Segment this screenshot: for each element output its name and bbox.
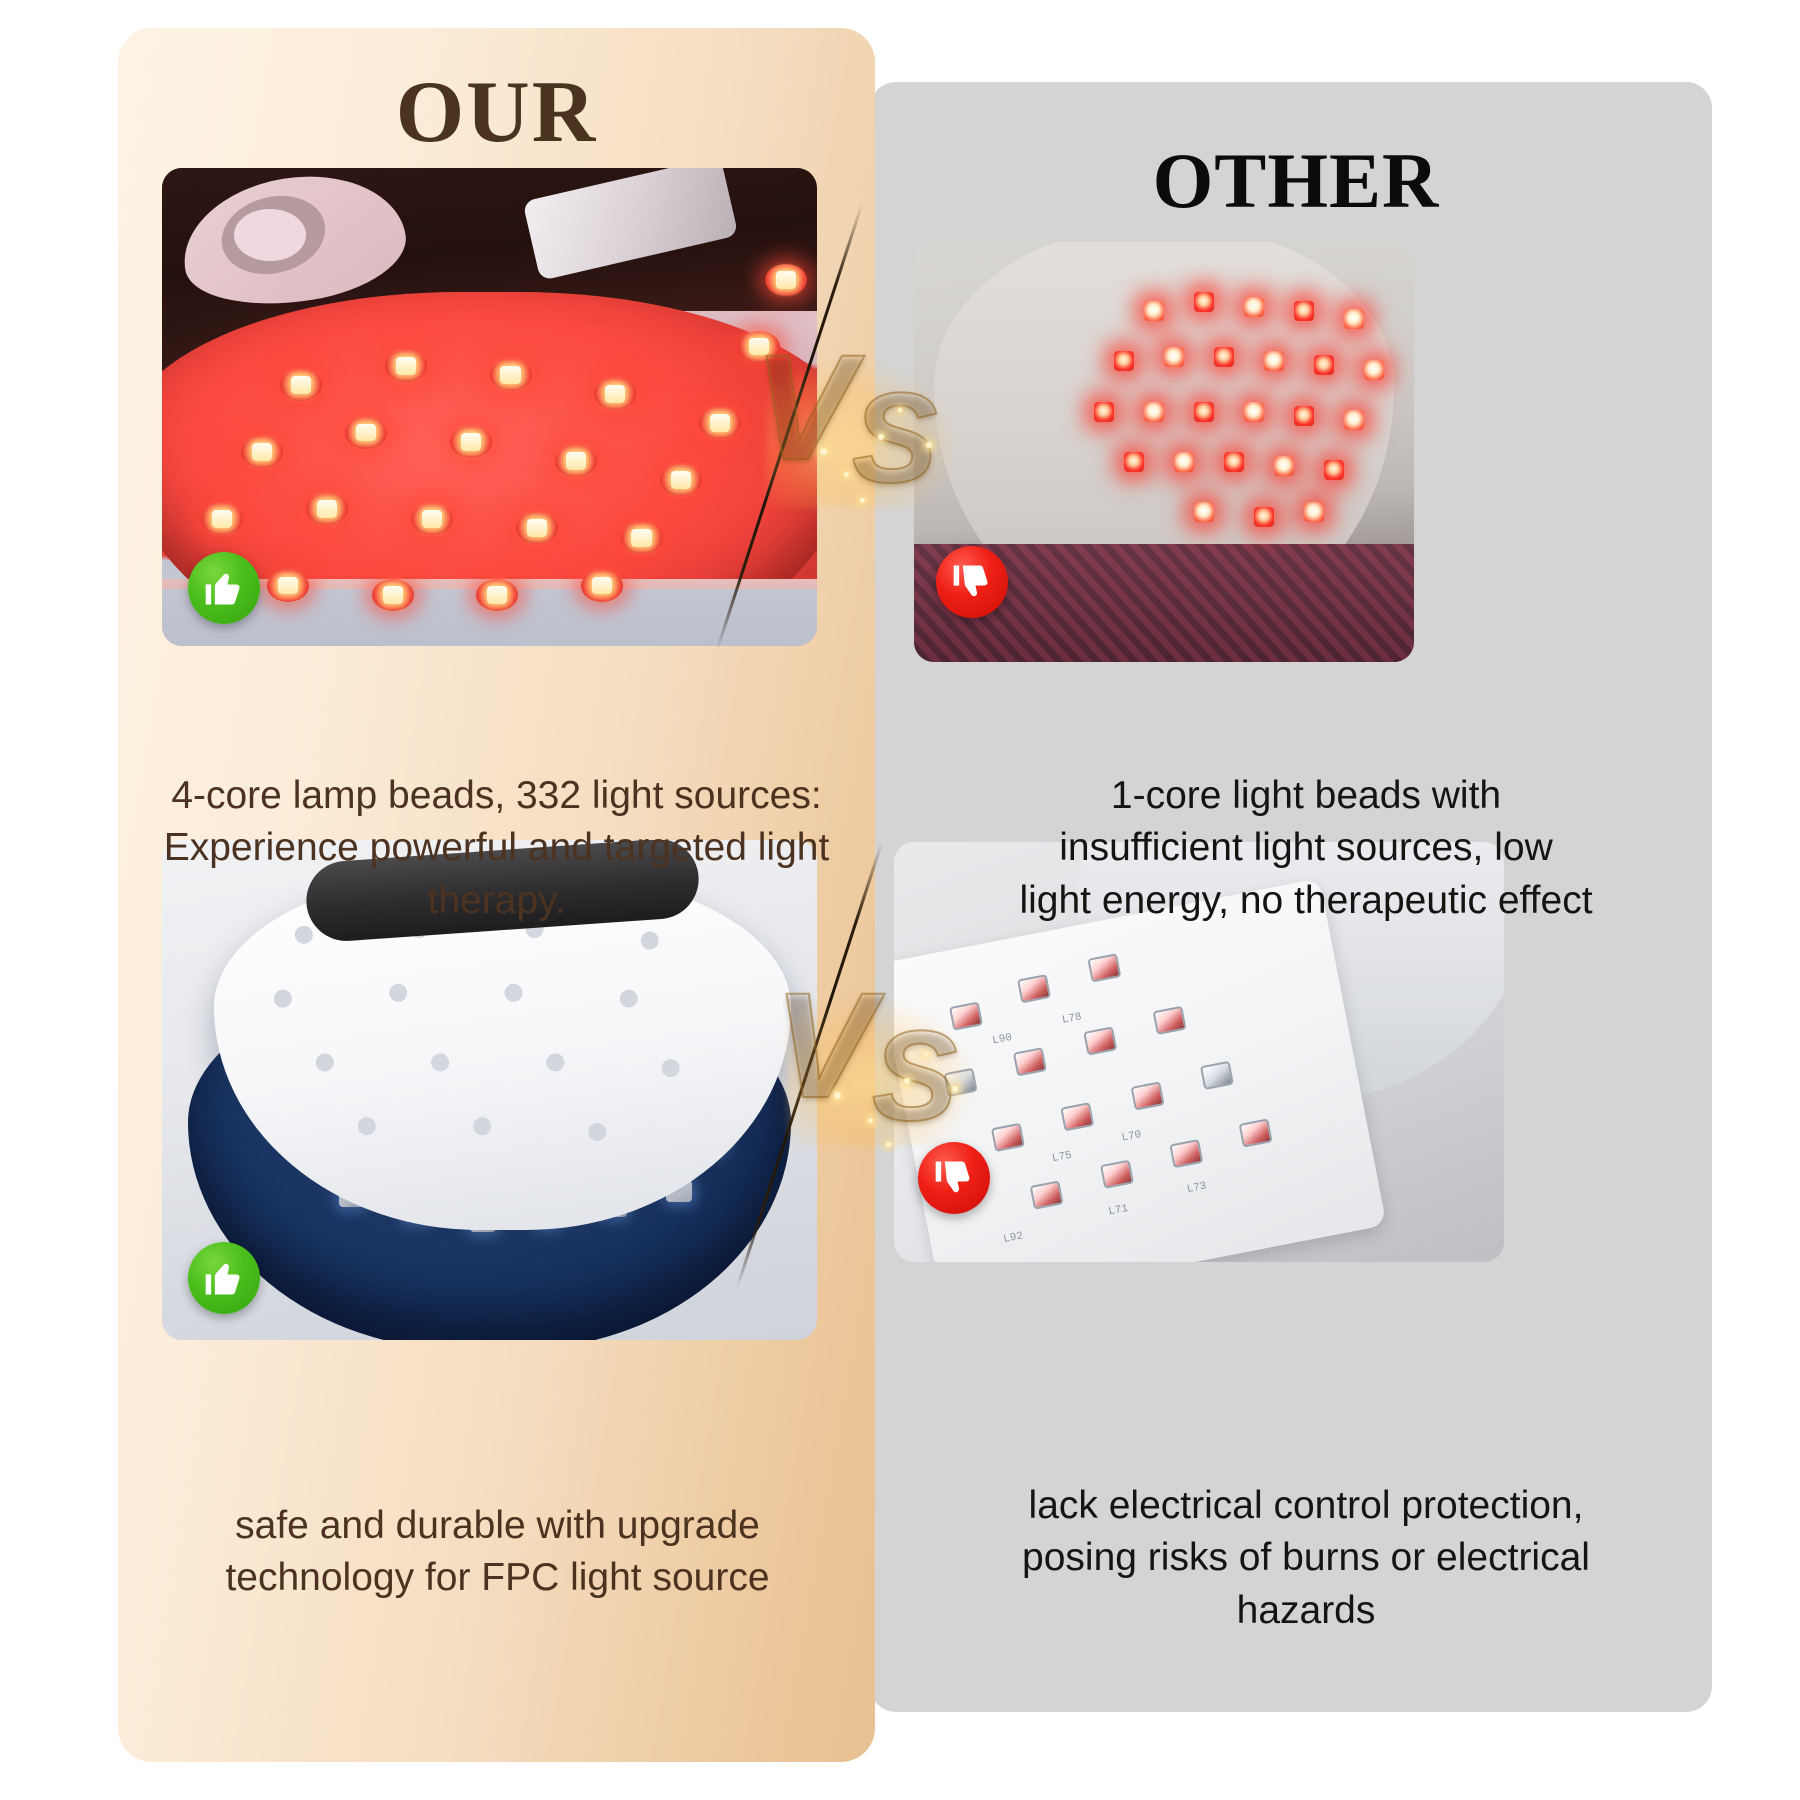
- caption-line: technology for FPC light source: [140, 1552, 855, 1604]
- thumbs-up-icon: [202, 566, 246, 610]
- other-title: OTHER: [880, 136, 1712, 226]
- caption-line: lack electrical control protection,: [900, 1480, 1712, 1532]
- caption-line: safe and durable with upgrade: [140, 1500, 855, 1552]
- thumbs-down-badge: [936, 546, 1008, 618]
- other-top-caption: 1-core light beads with insufficient lig…: [900, 770, 1712, 927]
- our-title: OUR: [118, 62, 875, 163]
- red-light-mask-illustration: [162, 168, 817, 646]
- vs-letter-s: S: [872, 1002, 951, 1152]
- caption-line: 1-core light beads with: [900, 770, 1712, 822]
- our-top-caption: 4-core lamp beads, 332 light sources: Ex…: [130, 770, 863, 927]
- caption-line: light energy, no therapeutic effect: [900, 875, 1712, 927]
- comparison-infographic: OUR OTHER: [0, 0, 1800, 1800]
- our-bottom-caption: safe and durable with upgrade technology…: [140, 1500, 855, 1605]
- thumbs-up-icon: [202, 1256, 246, 1300]
- caption-line: insufficient light sources, low: [900, 822, 1712, 874]
- vs-badge-bottom: V S: [768, 960, 988, 1170]
- thumbs-up-badge: [188, 552, 260, 624]
- other-top-photo: [914, 242, 1414, 662]
- caption-line: 4-core lamp beads, 332 light sources:: [130, 770, 863, 822]
- thumbs-down-icon: [950, 560, 994, 604]
- other-bottom-caption: lack electrical control protection, posi…: [900, 1480, 1712, 1637]
- vs-letter-s: S: [852, 364, 931, 514]
- vs-letters: V S: [748, 322, 968, 532]
- caption-line: posing risks of burns or electrical: [900, 1532, 1712, 1584]
- caption-line: hazards: [900, 1585, 1712, 1637]
- vs-badge-top: V S: [748, 322, 968, 532]
- vs-letter-v: V: [754, 332, 848, 482]
- our-top-photo: [162, 168, 817, 646]
- thumbs-up-badge: [188, 1242, 260, 1314]
- vs-letter-v: V: [774, 970, 868, 1120]
- vs-letters: V S: [768, 960, 988, 1170]
- caption-line: Experience powerful and targeted light t…: [130, 822, 863, 927]
